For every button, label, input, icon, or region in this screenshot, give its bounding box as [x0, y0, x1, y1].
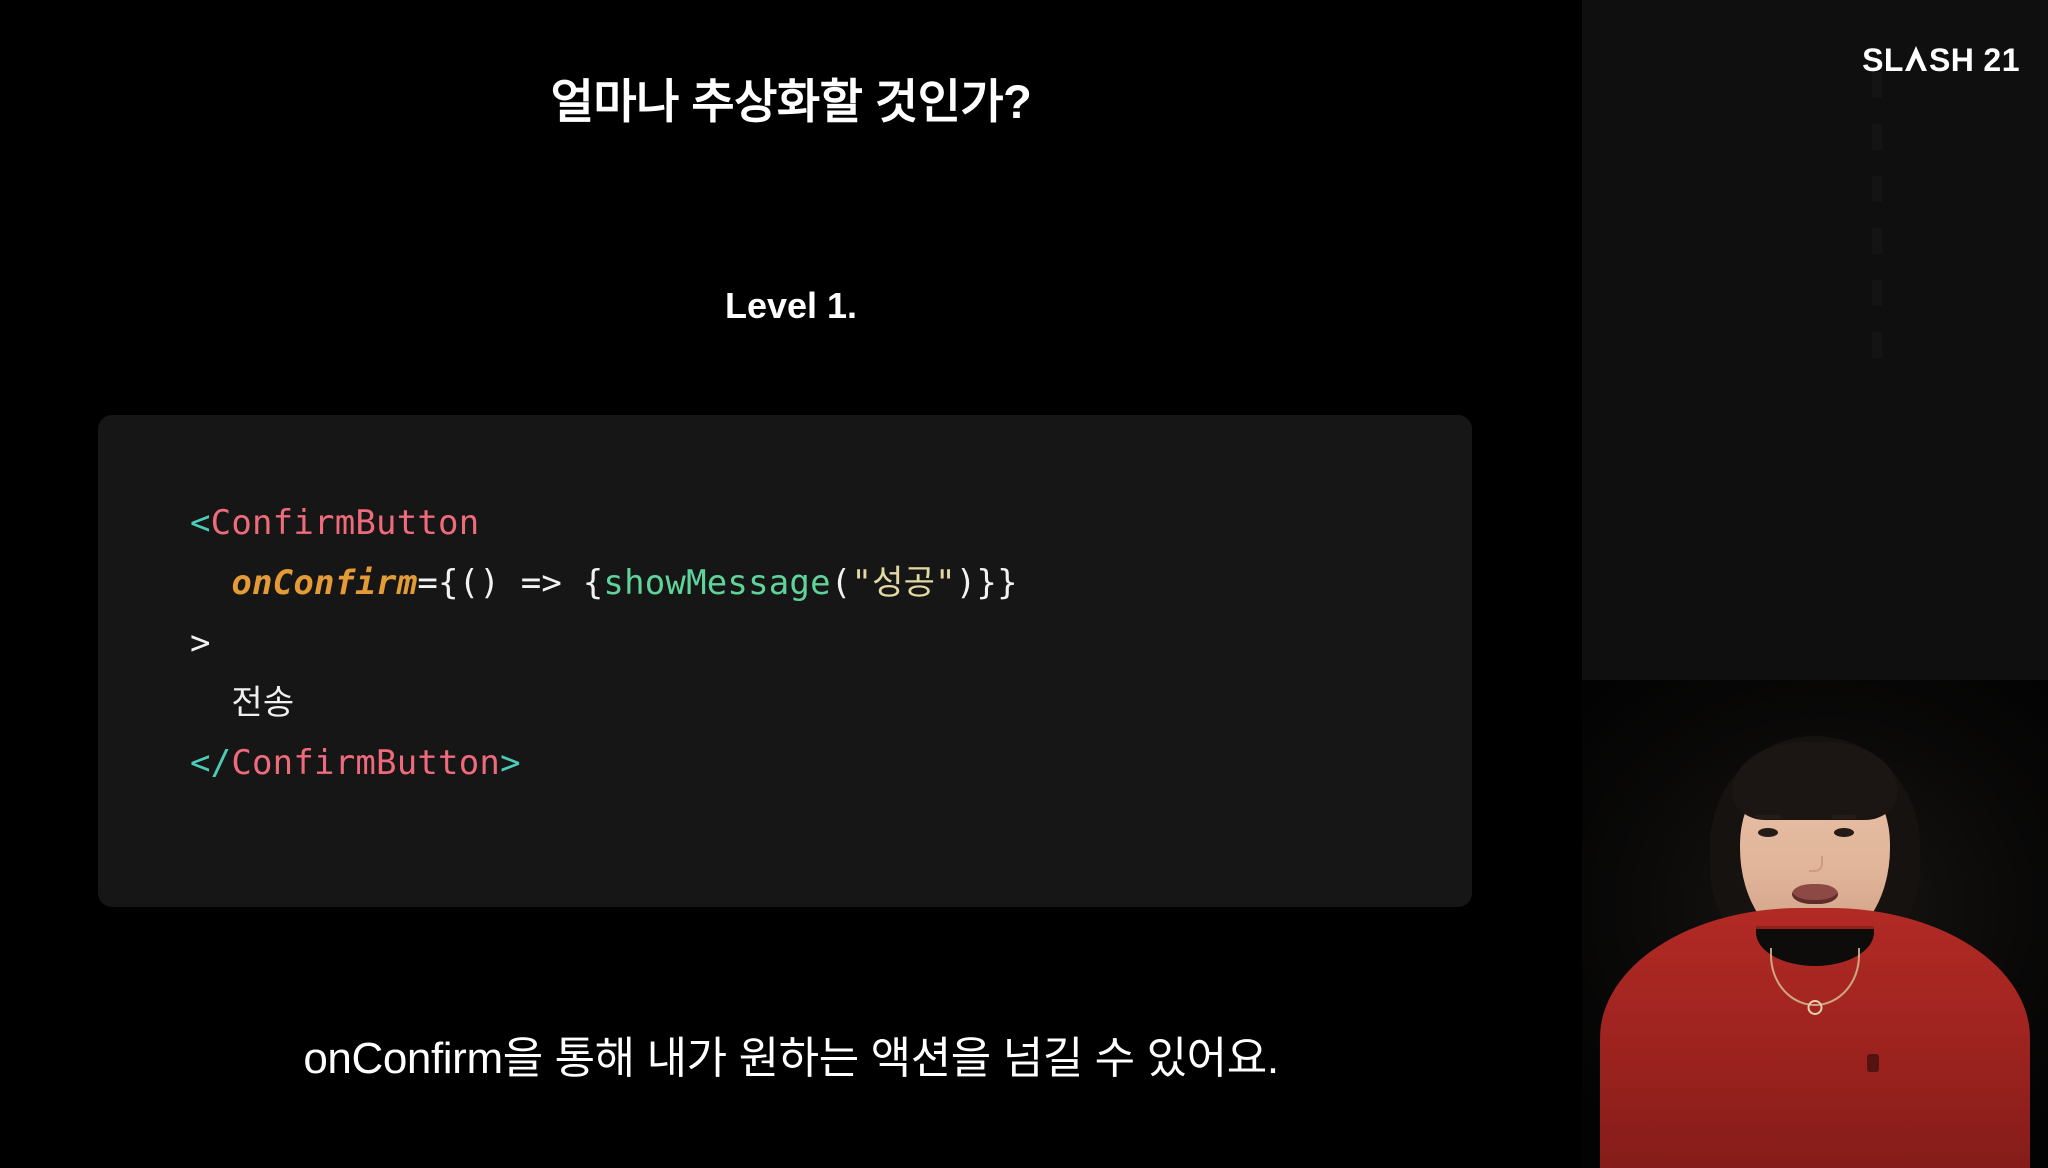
- sweater-logo-patch: [1867, 1054, 1879, 1072]
- level-label: Level 1.: [0, 285, 1582, 327]
- code-line: </ConfirmButton>: [190, 733, 1472, 793]
- code-token-text: 전송: [231, 683, 294, 723]
- code-token-string: "성공": [851, 563, 955, 603]
- panel-seam-decoration: [1872, 72, 1882, 372]
- speaker-sweater: [1600, 908, 2030, 1168]
- code-line: >: [190, 613, 1472, 673]
- slide-title: 얼마나 추상화할 것인가?: [0, 73, 1582, 132]
- code-token-text: [190, 683, 231, 723]
- speaker-eye-right: [1834, 828, 1854, 837]
- necklace-pendant: [1808, 1000, 1823, 1015]
- code-token-bracket: <: [190, 503, 211, 543]
- speaker-eyebrow-left: [1755, 815, 1781, 819]
- code-line: onConfirm={() => {showMessage("성공")}}: [190, 553, 1472, 613]
- speaker-figure: [1582, 680, 2048, 1168]
- speaker-bangs: [1732, 742, 1898, 820]
- right-column: SL SH 21: [1582, 0, 2048, 1168]
- speaker-eye-left: [1758, 828, 1778, 837]
- speaker-mouth: [1792, 884, 1838, 904]
- subtitle-caption: onConfirm을 통해 내가 원하는 액션을 넘길 수 있어요.: [0, 1022, 1582, 1086]
- code-token-tag: ConfirmButton: [231, 743, 500, 783]
- code-line: 전송: [190, 673, 1472, 733]
- code-token-tag: ConfirmButton: [211, 503, 480, 543]
- code-line: <ConfirmButton: [190, 493, 1472, 553]
- code-token-punctuation: ={() => {: [417, 563, 603, 603]
- slide-area: 얼마나 추상화할 것인가? Level 1. <ConfirmButton on…: [0, 0, 1582, 1168]
- logo-text-part1: SL: [1862, 42, 1904, 79]
- logo-text-part2: SH: [1929, 42, 1974, 79]
- code-block: <ConfirmButton onConfirm={() => {showMes…: [98, 493, 1472, 793]
- code-token-punctuation: >: [190, 623, 211, 663]
- code-token-bracket: >: [500, 743, 521, 783]
- speaker-video-tile[interactable]: [1582, 680, 2048, 1168]
- presentation-stage: 얼마나 추상화할 것인가? Level 1. <ConfirmButton on…: [0, 0, 2048, 1168]
- logo-wordmark: SL SH: [1862, 42, 1974, 79]
- code-token-attribute: onConfirm: [231, 563, 417, 603]
- code-token-bracket: </: [190, 743, 231, 783]
- logo-number: 21: [1983, 42, 2020, 79]
- brand-panel: SL SH 21: [1582, 0, 2048, 680]
- code-token-function: showMessage: [603, 563, 830, 603]
- speaker-eyebrow-right: [1831, 815, 1857, 819]
- logo-lambda-a-icon: [1905, 46, 1928, 71]
- speaker-necklace: [1770, 948, 1860, 1006]
- code-token-punctuation: )}}: [956, 563, 1018, 603]
- slash21-logo: SL SH 21: [1862, 42, 2020, 79]
- code-token-punctuation: (: [831, 563, 852, 603]
- code-token-text: [190, 563, 231, 603]
- code-card: <ConfirmButton onConfirm={() => {showMes…: [98, 415, 1472, 907]
